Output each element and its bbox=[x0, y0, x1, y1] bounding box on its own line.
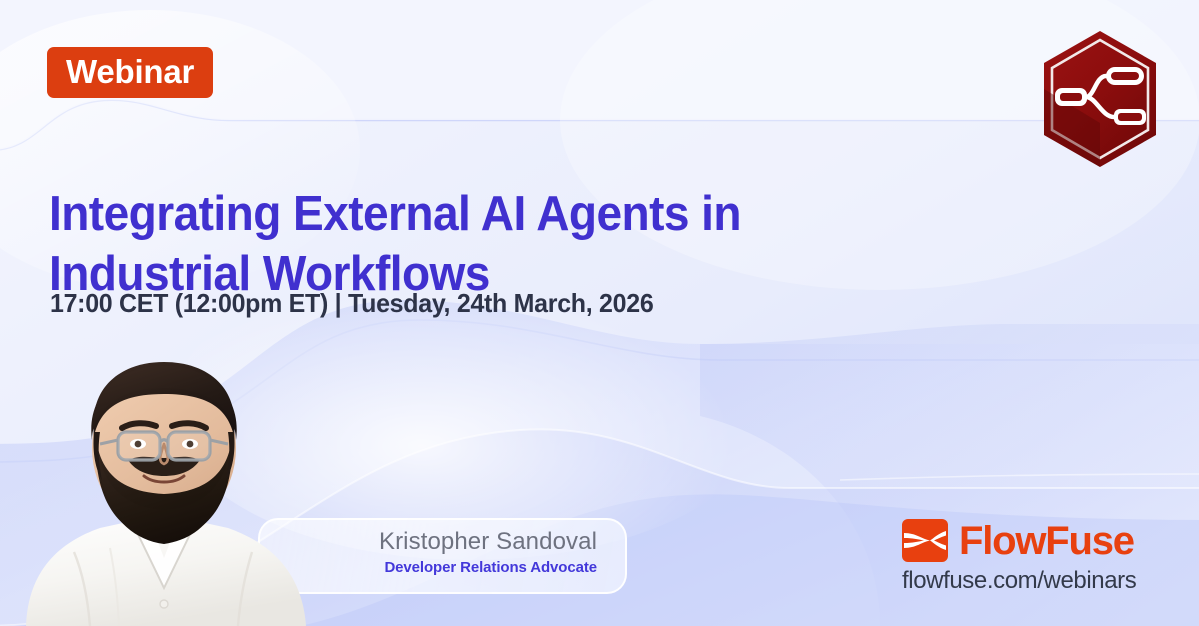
schedule-text: 17:00 CET (12:00pm ET) | Tuesday, 24th M… bbox=[50, 288, 653, 319]
webinar-promo-banner: Webinar Integrating External AI Agents i… bbox=[0, 0, 1199, 626]
brand-url: flowfuse.com/webinars bbox=[902, 569, 1136, 593]
webinar-badge: Webinar bbox=[47, 47, 213, 98]
title-line-1: Integrating External AI Agents in bbox=[49, 185, 763, 245]
node-red-hexagon-logo bbox=[1036, 27, 1164, 171]
flowfuse-wordmark: FlowFuse bbox=[959, 521, 1134, 561]
page-title: Integrating External AI Agents in Indust… bbox=[49, 185, 763, 305]
speaker-portrait-illustration bbox=[14, 352, 324, 626]
flowfuse-brand-block: FlowFuse flowfuse.com/webinars bbox=[902, 519, 1136, 593]
speaker-photo bbox=[14, 352, 324, 626]
flowfuse-mark-icon bbox=[902, 519, 948, 562]
